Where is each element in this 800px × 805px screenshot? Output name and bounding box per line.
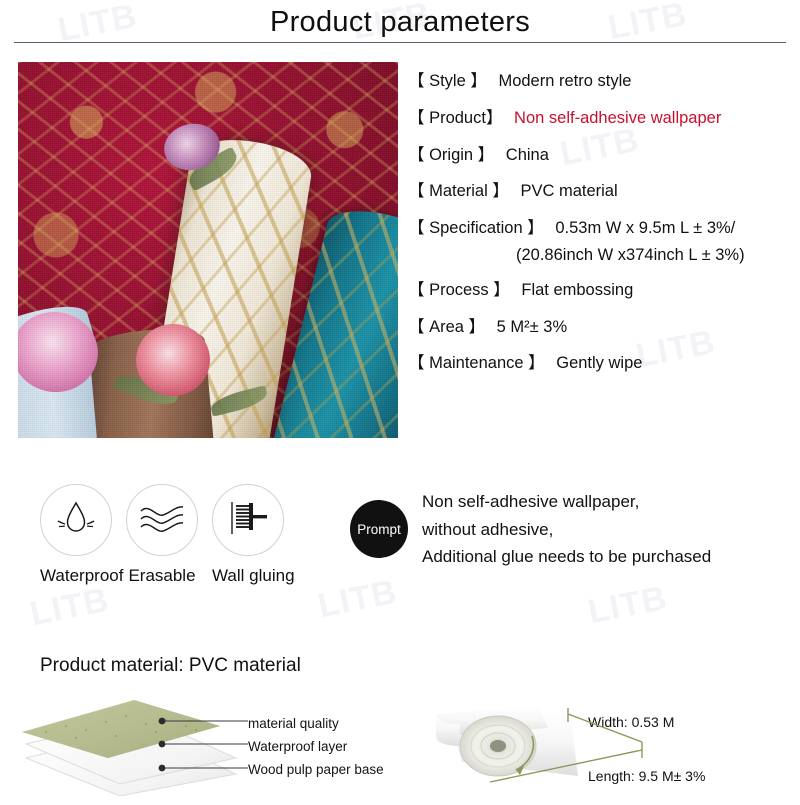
spec-label: 【 Material 】 — [408, 182, 509, 200]
roll-dimension-diagram — [420, 684, 800, 800]
feature-badge-erasable — [126, 484, 198, 556]
spec-value: 0.53m W x 9.5m L ± 3%/ — [555, 219, 735, 237]
glue-brush-icon — [223, 494, 273, 547]
spec-value-continuation: (20.86inch W x374inch L ± 3%) — [516, 246, 792, 266]
page-header: Product parameters — [0, 0, 800, 56]
spec-label: 【 Maintenance 】 — [408, 354, 545, 372]
spec-row-style: 【 Style 】 Modern retro style — [408, 72, 792, 92]
spec-label: 【 Process 】 — [408, 281, 510, 299]
spec-label: 【 Specification 】 — [408, 219, 544, 237]
spec-row-origin: 【 Origin 】 China — [408, 146, 792, 166]
watermark: LITB — [585, 579, 671, 632]
spec-value: PVC material — [520, 182, 617, 200]
product-photo — [18, 62, 398, 438]
spec-label: 【 Area 】 — [408, 318, 485, 336]
feature-label-erasable: Erasable — [126, 566, 198, 586]
material-layer-diagram — [22, 696, 402, 796]
page-title: Product parameters — [0, 6, 800, 39]
feature-label-wall-gluing: Wall gluing — [212, 566, 284, 586]
spec-row-maintenance: 【 Maintenance 】 Gently wipe — [408, 354, 792, 374]
feature-badges: Waterproof Erasable Wall gluing — [40, 484, 284, 586]
spec-row-specification: 【 Specification 】 0.53m W x 9.5m L ± 3%/… — [408, 219, 792, 266]
waves-icon — [136, 494, 188, 547]
feature-badge-waterproof — [40, 484, 112, 556]
spec-row-material: 【 Material 】 PVC material — [408, 182, 792, 202]
feature-badge-wall-gluing — [212, 484, 284, 556]
watermark: LITB — [315, 573, 401, 626]
specification-list: 【 Style 】 Modern retro style 【 Product】 … — [408, 72, 792, 391]
spec-value: Gently wipe — [556, 354, 642, 372]
spec-value: Non self-adhesive wallpaper — [514, 109, 721, 127]
feature-label-waterproof: Waterproof — [40, 566, 112, 586]
prompt-notice: Prompt Non self-adhesive wallpaper, with… — [350, 486, 711, 571]
spec-row-area: 【 Area 】 5 M²± 3% — [408, 318, 792, 338]
material-heading: Product material: PVC material — [40, 655, 301, 677]
spec-row-process: 【 Process 】 Flat embossing — [408, 281, 792, 301]
header-divider — [14, 42, 786, 43]
prompt-badge: Prompt — [350, 500, 408, 558]
spec-value: 5 M²± 3% — [497, 318, 568, 336]
spec-value: China — [506, 146, 549, 164]
spec-row-product: 【 Product】 Non self-adhesive wallpaper — [408, 109, 792, 129]
prompt-line: without adhesive, — [422, 516, 711, 544]
spec-label: 【 Style 】 — [408, 72, 487, 90]
spec-value: Modern retro style — [498, 72, 631, 90]
watermark: LITB — [27, 581, 113, 634]
spec-label: 【 Origin 】 — [408, 146, 494, 164]
spec-label: 【 Product】 — [408, 109, 502, 127]
prompt-line: Non self-adhesive wallpaper, — [422, 488, 711, 516]
water-drop-icon — [52, 494, 100, 547]
photo-texture-overlay — [18, 62, 398, 438]
prompt-line: Additional glue needs to be purchased — [422, 543, 711, 571]
spec-value: Flat embossing — [521, 281, 633, 299]
